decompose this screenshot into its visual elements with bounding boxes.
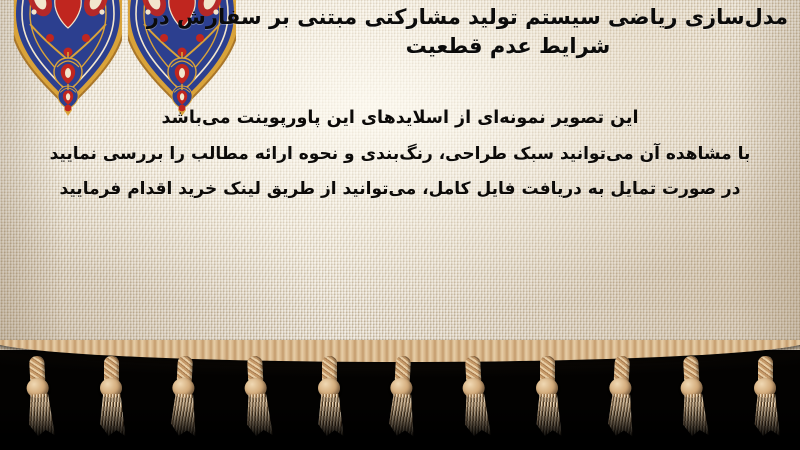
fringe-tassel [749, 356, 783, 434]
tassel-skirt [603, 393, 635, 437]
carpet-fringe-band [0, 350, 800, 450]
fringe-tassel [20, 355, 58, 435]
fringe-tassel [456, 355, 494, 435]
tassel-skirt [533, 394, 563, 436]
slide-canvas: مدل‌سازی ریاضی سیستم تولید مشارکتی مبتنی… [0, 0, 800, 450]
tassel-skirt [385, 393, 417, 437]
slide-body-line-3: در صورت تمایل به دریافت فایل کامل، می‌تو… [0, 181, 800, 198]
fringe-tassel [95, 356, 129, 434]
fringe-tassel [313, 356, 347, 434]
slide-body: این تصویر نمونه‌ای از اسلایدهای این پاور… [0, 110, 800, 216]
slide-text-layer: مدل‌سازی ریاضی سیستم تولید مشارکتی مبتنی… [0, 0, 800, 380]
tassel-skirt [315, 394, 345, 436]
slide-body-line-1: این تصویر نمونه‌ای از اسلایدهای این پاور… [0, 110, 800, 128]
tassel-skirt [460, 393, 492, 437]
slide-title-line-2: شرایط عدم قطعیت [228, 31, 788, 61]
fringe-tassel [238, 355, 276, 435]
tassel-skirt [751, 394, 781, 436]
fringe-tassel [674, 355, 712, 435]
tassel-skirt [167, 393, 199, 437]
slide-title: مدل‌سازی ریاضی سیستم تولید مشارکتی مبتنی… [228, 2, 788, 62]
slide-title-line-1: مدل‌سازی ریاضی سیستم تولید مشارکتی مبتنی… [228, 2, 788, 32]
slide-body-line-2: با مشاهده آن می‌توانید سبک طراحی، رنگ‌بن… [0, 146, 800, 163]
fringe-tassel [383, 355, 421, 435]
tassel-skirt [97, 394, 127, 436]
fringe-tassel [602, 355, 640, 435]
tassel-skirt [24, 393, 56, 437]
tassel-skirt [242, 393, 274, 437]
fringe-tassel [531, 356, 565, 434]
tassel-skirt [678, 393, 710, 437]
fringe-tassel [165, 355, 203, 435]
